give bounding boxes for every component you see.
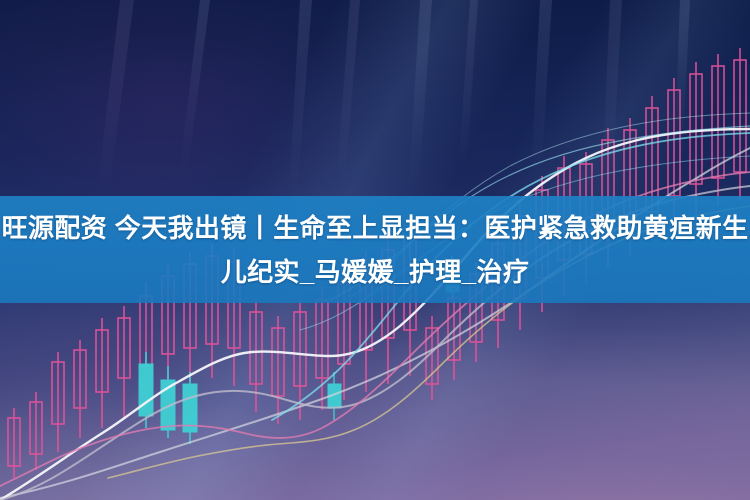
moving-average-lines — [0, 113, 750, 500]
banner-title: 旺源配资 今天我出镜丨生命至上显担当：医护紧急救助黄疸新生 儿纪实_马媛媛_护理… — [0, 196, 750, 303]
banner-title-line1: 旺源配资 今天我出镜丨生命至上显担当：医护紧急救助黄疸新生 — [2, 206, 749, 250]
banner-image: 旺源配资 今天我出镜丨生命至上显担当：医护紧急救助黄疸新生 儿纪实_马媛媛_护理… — [0, 0, 750, 500]
ma-line-white — [0, 129, 750, 500]
banner-title-line2: 儿纪实_马媛媛_护理_治疗 — [221, 250, 530, 294]
